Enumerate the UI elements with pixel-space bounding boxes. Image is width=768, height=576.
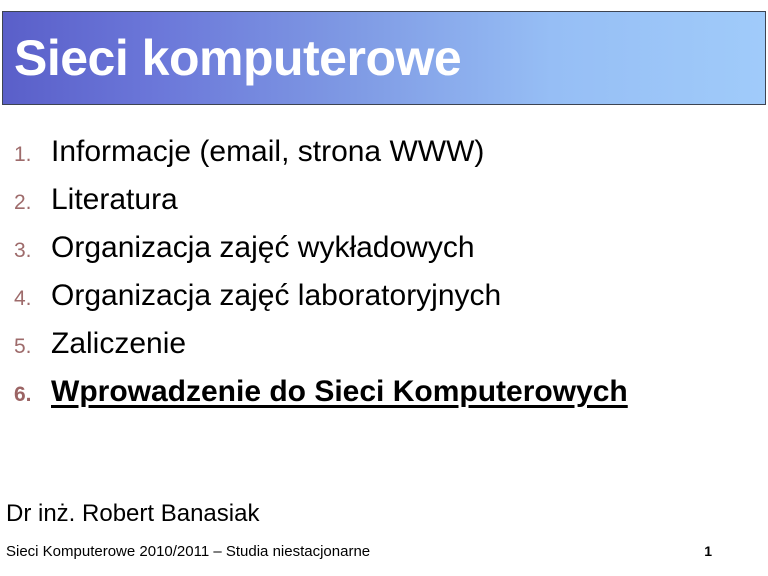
- list-item[interactable]: 3. Organizacja zajęć wykładowych: [0, 224, 768, 272]
- list-item-label: Organizacja zajęć laboratoryjnych: [51, 272, 768, 320]
- course-footer: Sieci Komputerowe 2010/2011 – Studia nie…: [6, 543, 370, 560]
- page-title: Sieci komputerowe: [14, 32, 461, 85]
- list-item[interactable]: 5. Zaliczenie: [0, 320, 768, 368]
- list-item-number: 3.: [0, 227, 51, 275]
- list-item-number: 5.: [0, 323, 51, 371]
- list-item-label: Literatura: [51, 176, 768, 224]
- list-item[interactable]: 2. Literatura: [0, 176, 768, 224]
- page-number: 1: [704, 543, 712, 559]
- author-name: Dr inż. Robert Banasiak: [6, 500, 259, 528]
- title-banner: Sieci komputerowe: [2, 11, 766, 105]
- agenda-list: 1. Informacje (email, strona WWW) 2. Lit…: [0, 128, 768, 416]
- list-item-label: Zaliczenie: [51, 320, 768, 368]
- list-item-label: Organizacja zajęć wykładowych: [51, 224, 768, 272]
- slide-canvas: Sieci komputerowe 1. Informacje (email, …: [0, 0, 768, 576]
- list-item-number: 4.: [0, 275, 51, 323]
- list-item-number: 1.: [0, 131, 51, 179]
- list-item[interactable]: 1. Informacje (email, strona WWW): [0, 128, 768, 176]
- list-item-number: 6.: [0, 371, 51, 419]
- list-item-number: 2.: [0, 179, 51, 227]
- list-item-label: Wprowadzenie do Sieci Komputerowych: [51, 368, 768, 416]
- list-item[interactable]: 4. Organizacja zajęć laboratoryjnych: [0, 272, 768, 320]
- list-item[interactable]: 6. Wprowadzenie do Sieci Komputerowych: [0, 368, 768, 416]
- list-item-label: Informacje (email, strona WWW): [51, 128, 768, 176]
